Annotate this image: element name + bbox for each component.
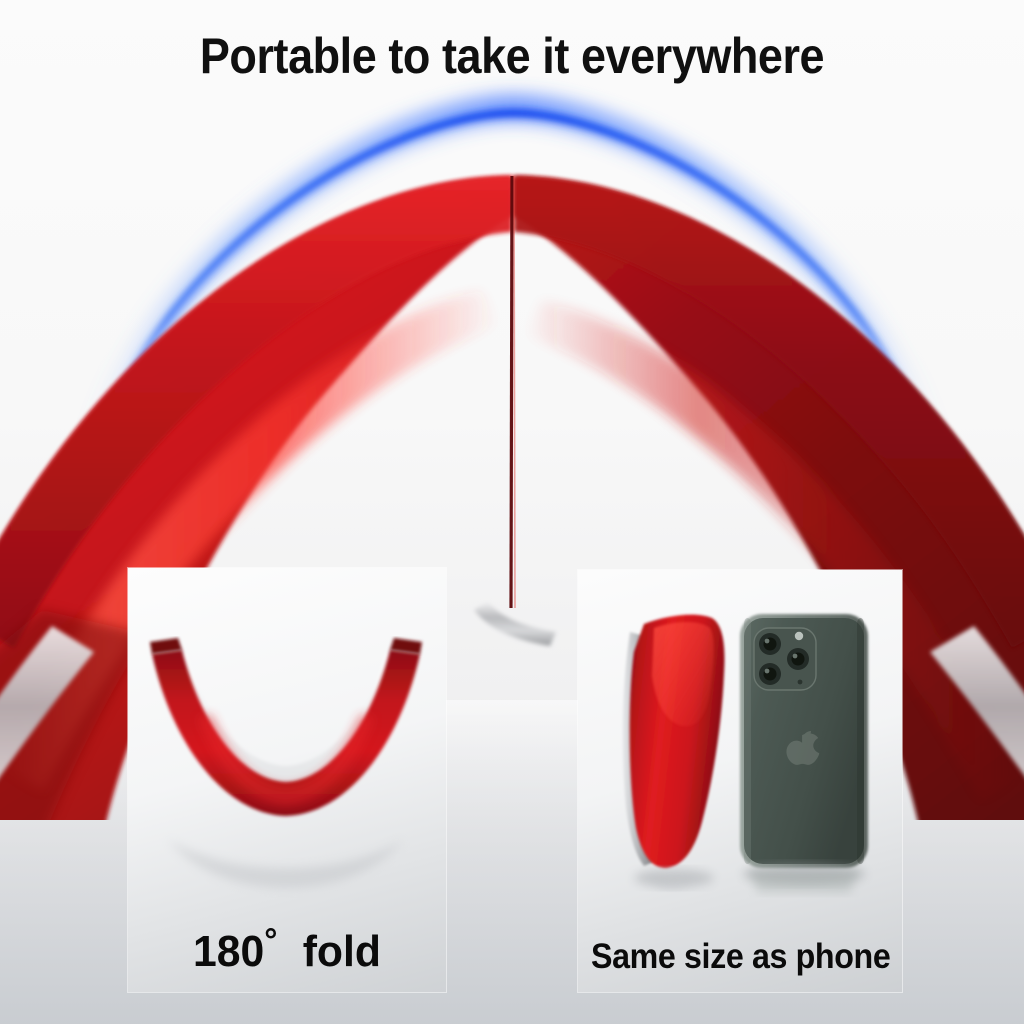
product-marketing-image: Portable to take it everywhere [0,0,1024,1024]
caption-size: Same size as phone [591,939,889,974]
smartphone [740,614,868,892]
camera-module [754,628,816,690]
fold-angle-value: 180 [193,927,264,976]
folded-device [623,615,725,889]
caption-fold: 180°fold [133,924,441,974]
size-comparison-illustration [578,570,902,900]
page-title: Portable to take it everywhere [51,31,973,81]
hinge-seam [511,176,515,608]
fold-word: fold [303,927,381,976]
fold-illustration [128,568,446,898]
degree-symbol: ° [264,922,277,960]
panel-fold: 180°fold [128,568,446,992]
panel-size: Same size as phone [578,570,902,992]
